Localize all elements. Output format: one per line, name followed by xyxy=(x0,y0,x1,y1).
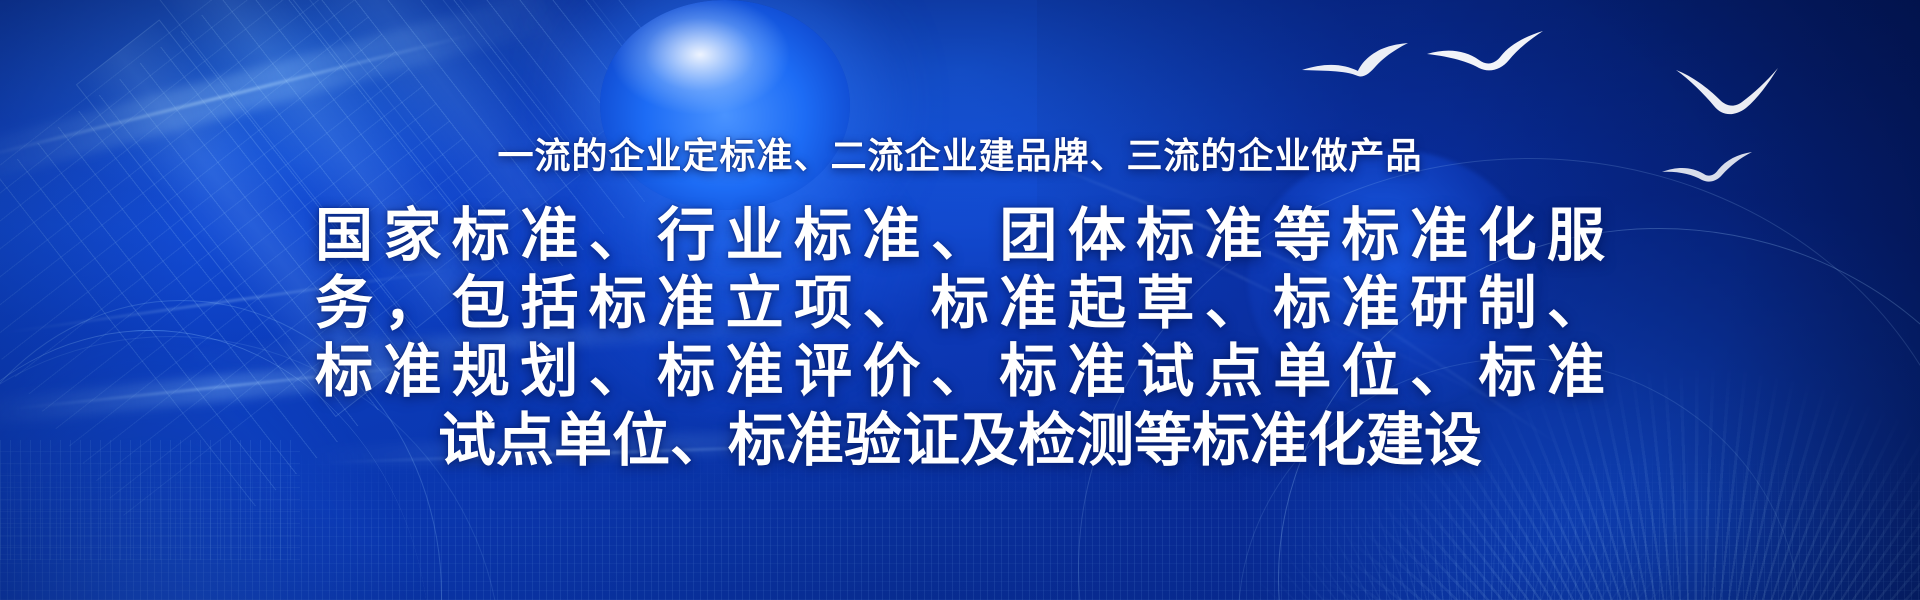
banner-body-line: 务，包括标准立项、标准起草、标准研制、 xyxy=(315,270,1605,338)
banner-headline: 一流的企业定标准、二流企业建品牌、三流的企业做产品 xyxy=(0,0,1920,176)
promo-banner: 一流的企业定标准、二流企业建品牌、三流的企业做产品 国家标准、行业标准、团体标准… xyxy=(0,0,1920,600)
banner-body-line: 国家标准、行业标准、团体标准等标准化服 xyxy=(315,202,1605,270)
banner-text-block: 一流的企业定标准、二流企业建品牌、三流的企业做产品 国家标准、行业标准、团体标准… xyxy=(0,0,1920,475)
banner-body: 国家标准、行业标准、团体标准等标准化服 务，包括标准立项、标准起草、标准研制、 … xyxy=(315,176,1605,476)
banner-body-line: 试点单位、标准验证及检测等标准化建设 xyxy=(315,407,1605,475)
banner-body-line: 标准规划、标准评价、标准试点单位、标准 xyxy=(315,338,1605,406)
